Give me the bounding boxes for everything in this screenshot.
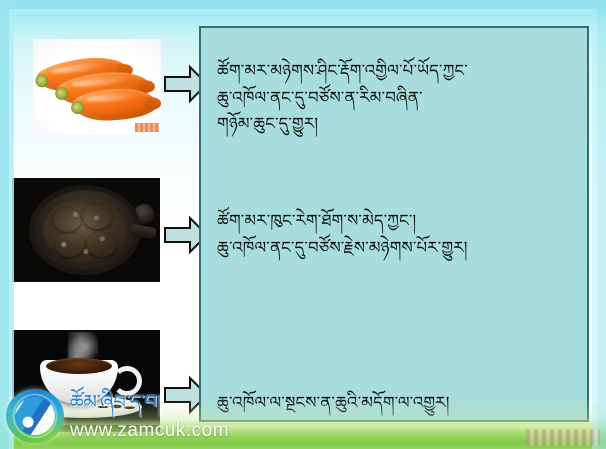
tibetan-text-panel: ཚོག་མར་མཉེགས་ཤིང་རྡོག་འགྱིལ་པོ་ཡོད་ཀྱང་ … (199, 26, 589, 422)
carrot-tip (145, 97, 161, 110)
pan-water (43, 198, 127, 262)
boiling-eggs-photo (12, 178, 160, 282)
tibetan-text-block-1: ཚོག་མར་མཉེགས་ཤིང་རྡོག་འགྱིལ་པོ་ཡོད་ཀྱང་ … (217, 58, 583, 138)
photo-source-watermark (135, 123, 159, 132)
coffee-beans (96, 400, 140, 414)
cup-handle (112, 366, 142, 396)
tibetan-text-block-3: ཆུ་འཁོལ་ལ་སྔངས་ན་ཆུའི་མདོག་ལ་འགྱུར། (217, 390, 583, 417)
tibetan-text-block-2: ཚོག་མར་ཁུང་རེག་ཐོག་ས་མེད་ཀྱང་། ཆུ་འཁོལ་ན… (217, 208, 583, 261)
carrot-crown (35, 73, 50, 88)
corner-watermark (526, 429, 600, 445)
carrot-crown (71, 100, 85, 114)
slide-canvas: ཚོག་མར་མཉེགས་ཤིང་རྡོག་འགྱིལ་པོ་ཡོད་ཀྱང་ … (0, 0, 606, 449)
carrots-photo (33, 39, 161, 134)
carrot-highlight (86, 92, 138, 102)
coffee-liquid (46, 358, 112, 374)
carrot-crown (55, 86, 69, 100)
carrot-highlight (71, 75, 130, 88)
stove-knob (134, 204, 154, 224)
coffee-cup-photo (12, 330, 160, 432)
carrots-photo-background (33, 39, 161, 134)
boiling-bubbles (49, 204, 123, 262)
cooking-pan (34, 190, 136, 270)
